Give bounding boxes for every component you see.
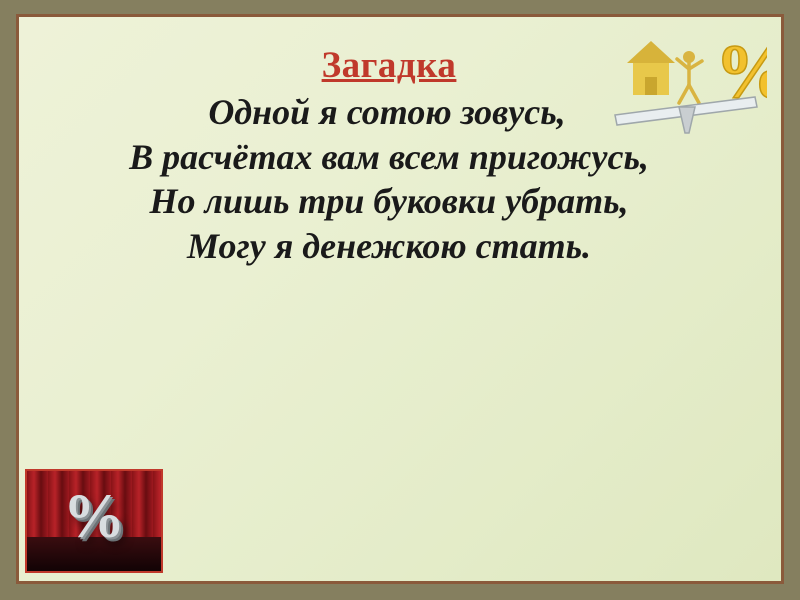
riddle-line-1: Одной я сотою зовусь, <box>79 92 699 133</box>
riddle-title: Загадка <box>79 47 699 86</box>
riddle-line-4: Могу я денежкою стать. <box>79 226 699 267</box>
slide-canvas: % Загадка Одно <box>16 14 784 584</box>
percent-glyph: % <box>63 482 125 553</box>
slide-frame: % Загадка Одно <box>0 0 800 600</box>
riddle-line-3: Но лишь три буковки убрать, <box>79 181 699 222</box>
percent-sign-photo: % % <box>25 469 163 573</box>
riddle-line-2: В расчётах вам всем пригожусь, <box>79 137 699 178</box>
riddle-text-block: Загадка Одной я сотою зовусь, В расчётах… <box>79 47 699 271</box>
percent-reflection: % <box>63 570 125 573</box>
